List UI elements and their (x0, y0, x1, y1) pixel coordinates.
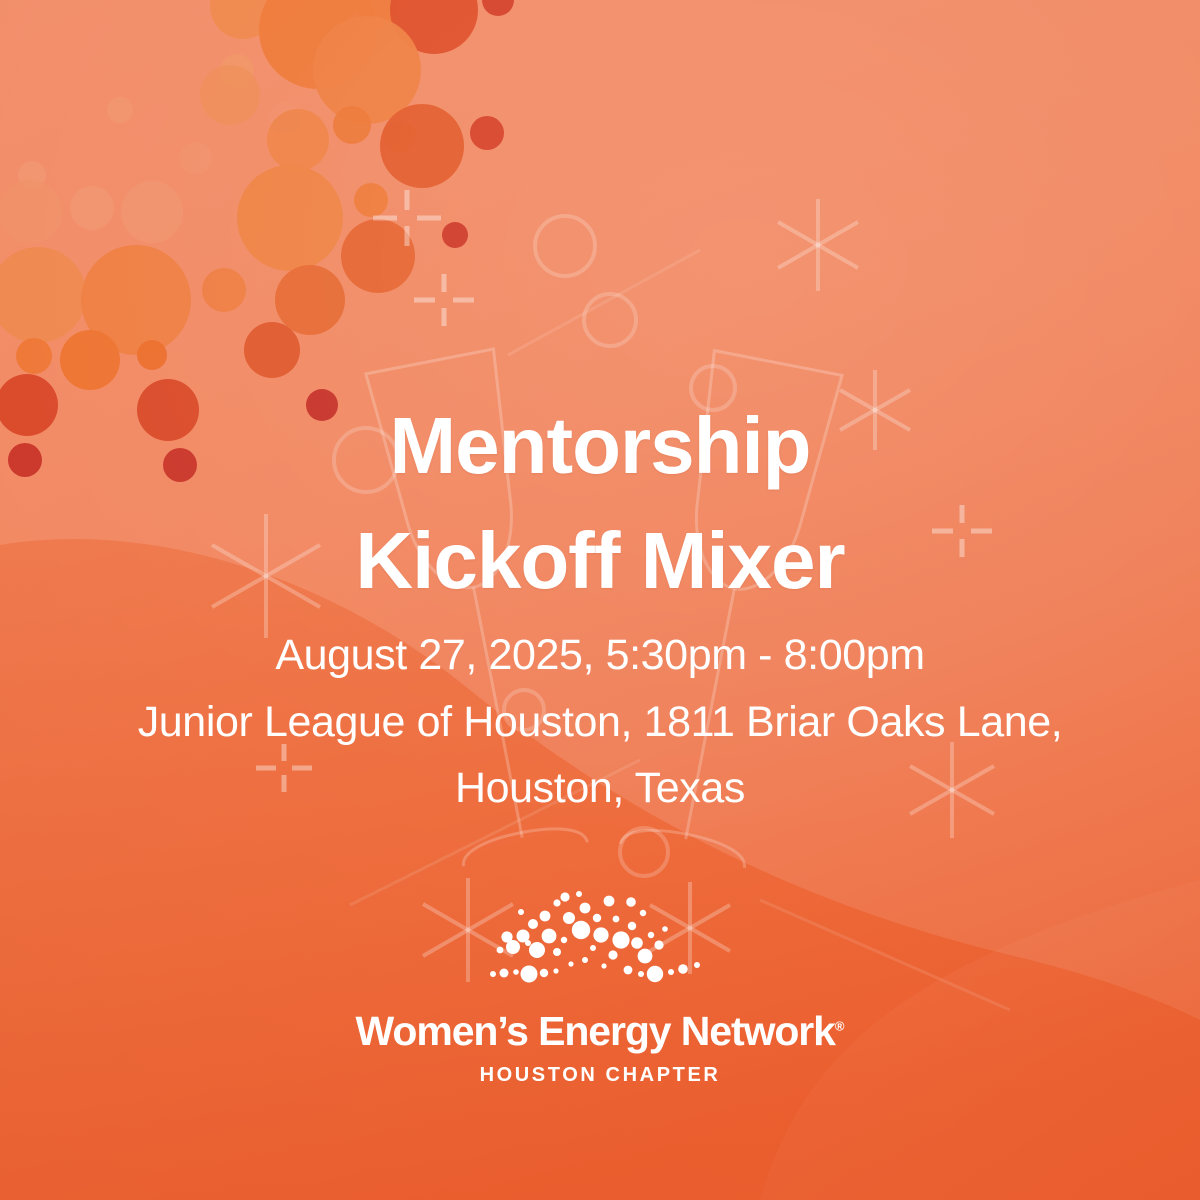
event-datetime: August 27, 2025, 5:30pm - 8:00pm (0, 622, 1200, 689)
event-details: August 27, 2025, 5:30pm - 8:00pm Junior … (0, 622, 1200, 822)
registered-trademark-icon: ® (835, 1018, 845, 1033)
event-title-line-1: Mentorship (0, 388, 1200, 503)
organization-logo: Women’s Energy Network® HOUSTON CHAPTER (0, 888, 1200, 1087)
logo-chapter-name: HOUSTON CHAPTER (480, 1064, 721, 1087)
event-title: Mentorship Kickoff Mixer (0, 388, 1200, 618)
logo-wordmark-text: Women’s Energy Network (356, 1008, 835, 1054)
event-flyer: Mentorship Kickoff Mixer August 27, 2025… (0, 0, 1200, 1200)
event-city-state: Houston, Texas (0, 755, 1200, 822)
flyer-content: Mentorship Kickoff Mixer August 27, 2025… (0, 0, 1200, 1200)
wen-dot-arch-mark (485, 888, 715, 994)
event-venue-address: Junior League of Houston, 1811 Briar Oak… (0, 689, 1200, 756)
logo-wordmark: Women’s Energy Network® (356, 1010, 845, 1053)
event-title-line-2: Kickoff Mixer (0, 503, 1200, 618)
